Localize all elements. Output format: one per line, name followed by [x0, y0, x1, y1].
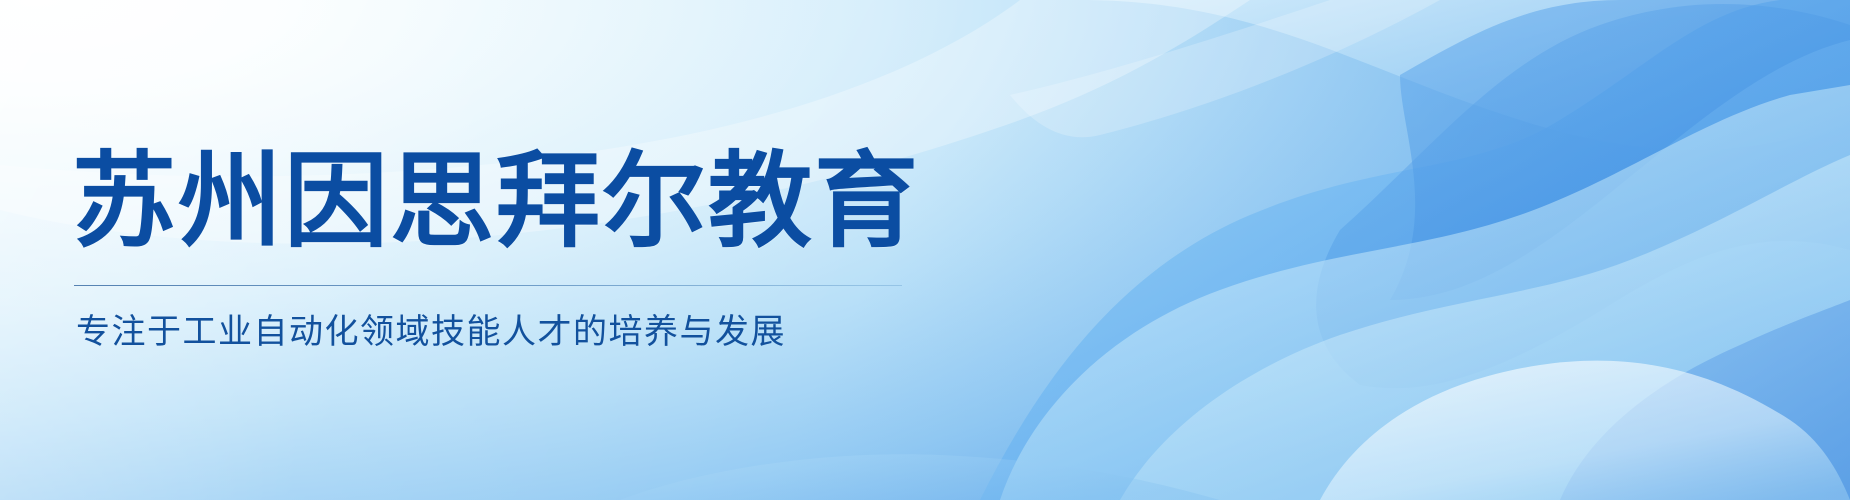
- banner-subtitle: 专注于工业自动化领域技能人才的培养与发展: [76, 310, 786, 354]
- title-divider: [74, 285, 902, 286]
- banner-root: 苏州因思拜尔教育 专注于工业自动化领域技能人才的培养与发展: [0, 0, 1850, 500]
- banner-title: 苏州因思拜尔教育: [72, 146, 920, 258]
- banner-content: 苏州因思拜尔教育 专注于工业自动化领域技能人才的培养与发展: [72, 0, 1072, 500]
